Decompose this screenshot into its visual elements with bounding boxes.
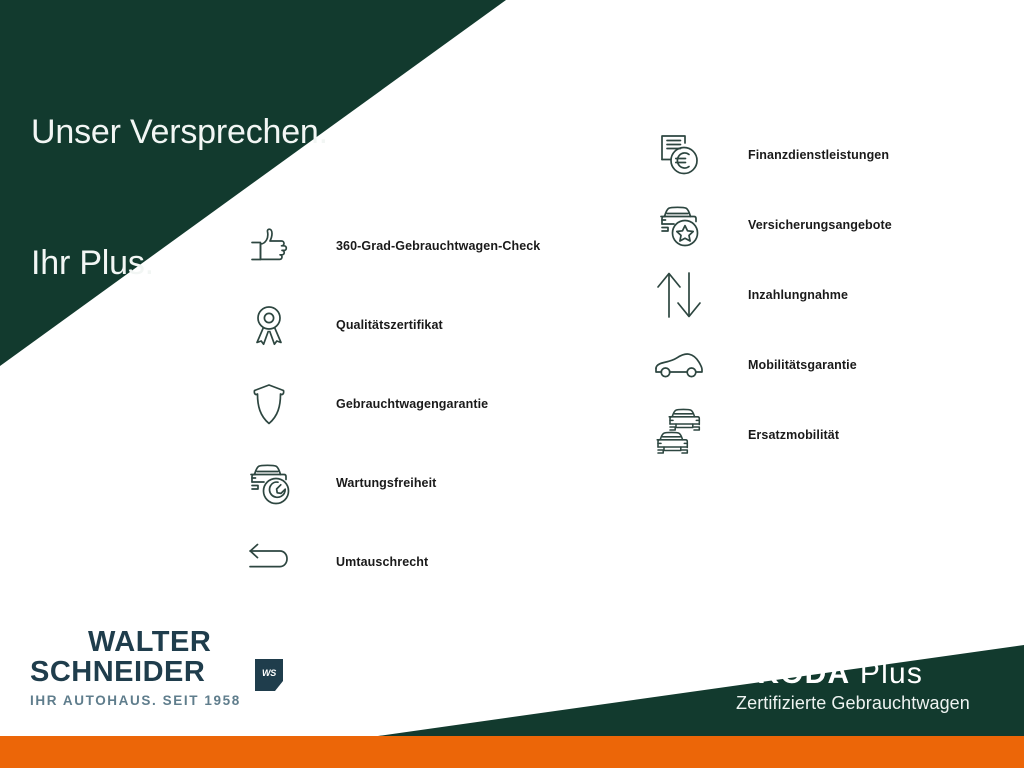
feature-label: Wartungsfreiheit <box>336 476 436 490</box>
return-arrow-icon <box>238 531 300 593</box>
dealer-logo: WALTER SCHNEIDER IHR AUTOHAUS. SEIT 1958 <box>30 628 290 708</box>
document-euro-icon <box>648 124 710 186</box>
thumbs-up-icon <box>238 215 300 277</box>
ws-badge-label: WS <box>255 659 283 691</box>
up-down-arrows-icon <box>648 264 710 326</box>
feature-item-quality-certificate: Qualitätszertifikat <box>238 285 540 364</box>
skoda-subtitle: Zertifizierte Gebrauchtwagen <box>736 692 970 715</box>
skoda-wordmark: ŠKODA Plus <box>736 658 970 690</box>
feature-label: Mobilitätsgarantie <box>748 358 857 372</box>
feature-item-warranty: Gebrauchtwagengarantie <box>238 364 540 443</box>
car-wrench-icon <box>238 452 300 514</box>
shield-icon <box>238 373 300 435</box>
car-side-icon <box>648 334 710 396</box>
feature-item-insurance-offers: Versicherungsangebote <box>648 190 892 260</box>
feature-item-mobility-guarantee: Mobilitätsgarantie <box>648 330 892 400</box>
skoda-brand-text: ŠKODA <box>736 657 850 690</box>
dealer-logo-line-1: WALTER <box>30 628 290 658</box>
feature-item-exchange-right: Umtauschrecht <box>238 522 540 601</box>
ws-badge-icon: WS <box>255 659 283 691</box>
feature-label: 360-Grad-Gebrauchtwagen-Check <box>336 239 540 253</box>
promo-banner: Unser Versprechen. Ihr Plus. 360-Grad-Ge… <box>0 0 1024 768</box>
car-star-icon <box>648 194 710 256</box>
two-cars-icon <box>648 404 710 466</box>
feature-list-left: 360-Grad-Gebrauchtwagen-Check Qualitätsz… <box>238 206 540 601</box>
dealer-logo-line-2: SCHNEIDER <box>30 658 290 688</box>
feature-item-replacement-mobility: Ersatzmobilität <box>648 400 892 470</box>
orange-footer-bar <box>0 736 1024 768</box>
feature-label: Ersatzmobilität <box>748 428 839 442</box>
headline-line-1: Unser Versprechen. <box>31 111 328 155</box>
award-ribbon-icon <box>238 294 300 356</box>
feature-label: Finanzdienstleistungen <box>748 148 889 162</box>
feature-label: Gebrauchtwagengarantie <box>336 397 488 411</box>
skoda-plus-logo: ŠKODA Plus Zertifizierte Gebrauchtwagen <box>736 658 970 715</box>
feature-label: Umtauschrecht <box>336 555 428 569</box>
feature-item-financial-services: Finanzdienstleistungen <box>648 120 892 190</box>
dealer-tagline: IHR AUTOHAUS. SEIT 1958 <box>30 693 290 708</box>
feature-label: Inzahlungnahme <box>748 288 848 302</box>
skoda-plus-text: Plus <box>850 657 923 690</box>
feature-label: Qualitätszertifikat <box>336 318 443 332</box>
feature-list-right: Finanzdienstleistungen Versicherungsange… <box>648 120 892 470</box>
feature-item-360-check: 360-Grad-Gebrauchtwagen-Check <box>238 206 540 285</box>
feature-item-trade-in: Inzahlungnahme <box>648 260 892 330</box>
feature-label: Versicherungsangebote <box>748 218 892 232</box>
feature-item-maintenance-free: Wartungsfreiheit <box>238 443 540 522</box>
